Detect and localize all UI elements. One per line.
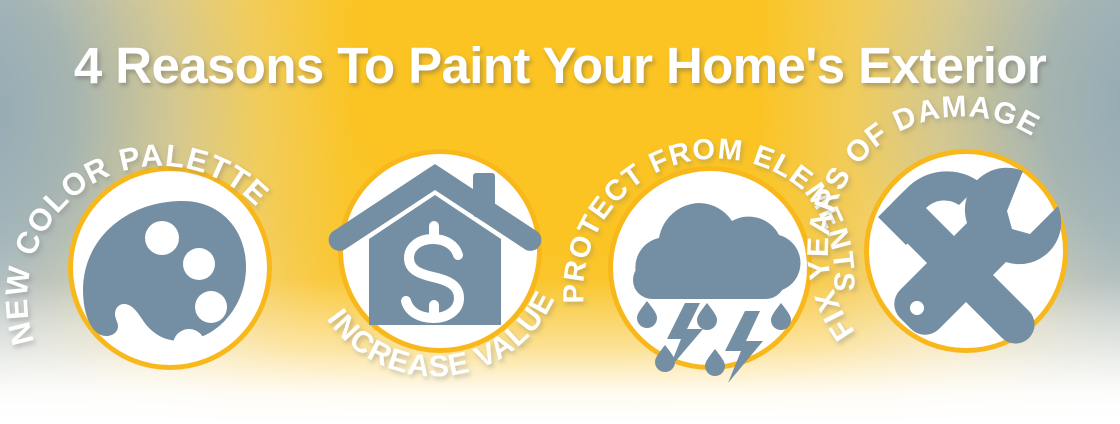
badge-new-color-palette[interactable]: NEW COLOR PALETTE [15, 113, 325, 423]
badge-fix-years-of-damage[interactable]: FIX YEARS OF DAMAGE [818, 103, 1120, 413]
badge-increase-value[interactable]: INCREASE VALUE [285, 103, 595, 413]
infographic-canvas: 4 Reasons To Paint Your Home's Exterior [0, 0, 1120, 424]
page-title: 4 Reasons To Paint Your Home's Exterior [0, 36, 1120, 95]
